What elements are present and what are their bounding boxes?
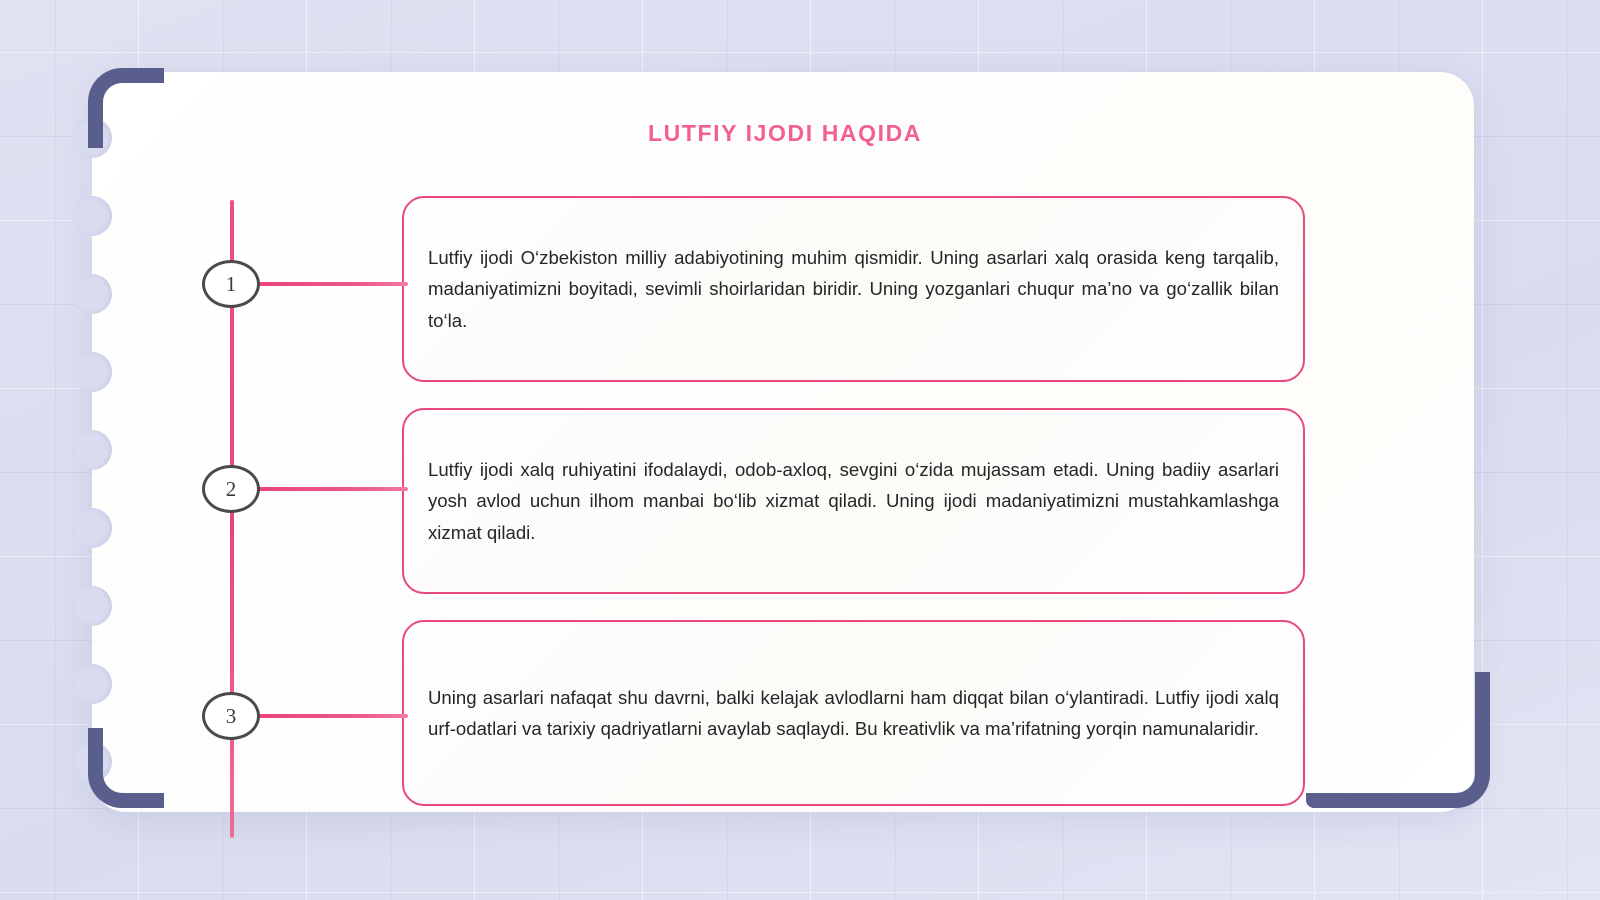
corner-bracket-bottom-left-icon <box>88 728 164 808</box>
timeline-node-1-number: 1 <box>226 272 237 297</box>
timeline-textbox-3: Uning asarlari nafaqat shu davrni, balki… <box>402 620 1305 806</box>
card-notch <box>72 586 112 626</box>
timeline-node-2[interactable]: 2 <box>202 465 260 513</box>
timeline-textbox-2: Lutfiy ijodi xalq ruhiyatini ifodalaydi,… <box>402 408 1305 594</box>
timeline-node-3-number: 3 <box>226 704 237 729</box>
card-notch <box>72 430 112 470</box>
slide-canvas: LUTFIY IJODI HAQIDA 1 Lutfiy ijodi O‘zbe… <box>0 0 1600 900</box>
timeline-node-2-number: 2 <box>226 477 237 502</box>
card-notch <box>72 508 112 548</box>
timeline-textbox-3-body: Uning asarlari nafaqat shu davrni, balki… <box>428 682 1279 744</box>
timeline-node-3[interactable]: 3 <box>202 692 260 740</box>
timeline-textbox-1-body: Lutfiy ijodi O‘zbekiston milliy adabiyot… <box>428 242 1279 336</box>
timeline-textbox-1: Lutfiy ijodi O‘zbekiston milliy adabiyot… <box>402 196 1305 382</box>
timeline-connector-2 <box>258 487 408 491</box>
timeline-textbox-2-body: Lutfiy ijodi xalq ruhiyatini ifodalaydi,… <box>428 454 1279 548</box>
card-notch <box>72 352 112 392</box>
corner-bracket-bottom-bar-icon <box>1306 756 1436 808</box>
card-notch <box>72 664 112 704</box>
page-title: LUTFIY IJODI HAQIDA <box>0 120 1570 147</box>
timeline-connector-1 <box>258 282 408 286</box>
timeline-connector-3 <box>258 714 408 718</box>
timeline-node-1[interactable]: 1 <box>202 260 260 308</box>
card-notch <box>72 274 112 314</box>
card-notch <box>72 196 112 236</box>
